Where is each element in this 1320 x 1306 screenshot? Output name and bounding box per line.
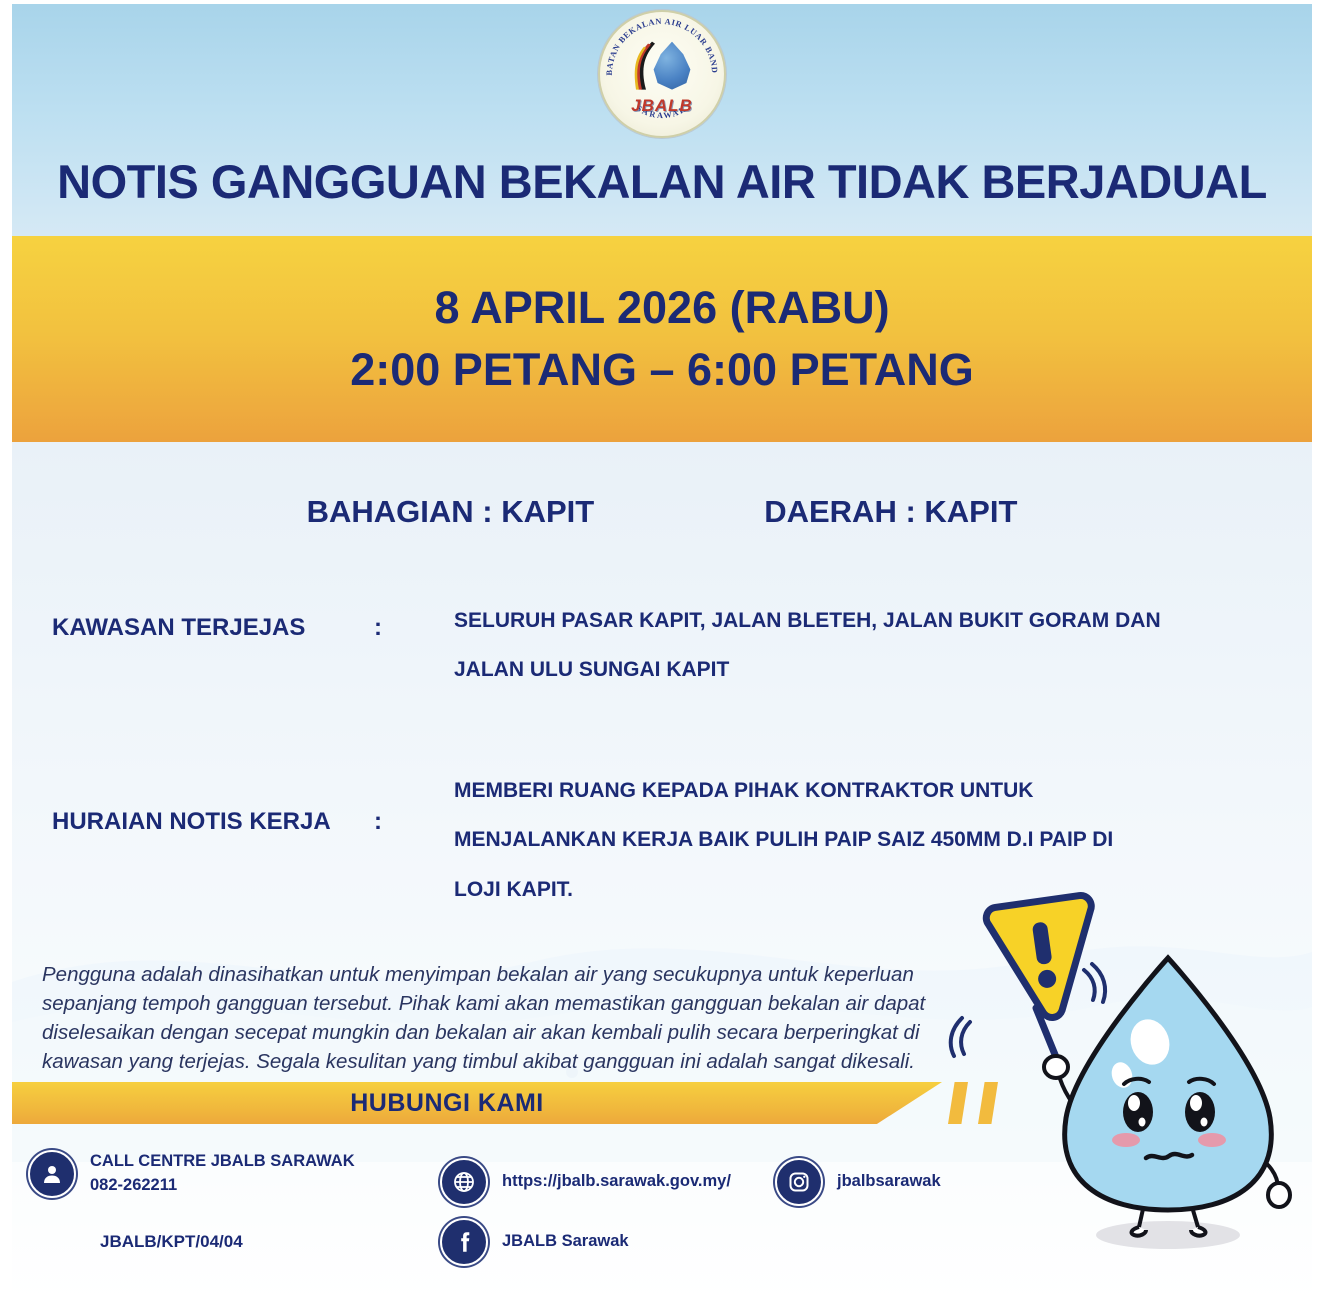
work-description-line-3: LOJI KAPIT.	[454, 865, 1214, 914]
call-centre-text: CALL CENTRE JBALB SARAWAK 082-262211	[90, 1150, 355, 1198]
logo-flame-swoosh-icon	[632, 40, 660, 92]
date-time-band: 8 APRIL 2026 (RABU) 2:00 PETANG – 6:00 P…	[12, 236, 1312, 442]
contact-banner: HUBUNGI KAMI	[12, 1082, 942, 1124]
affected-area-block: KAWASAN TERJEJAS : SELURUH PASAR KAPIT, …	[12, 592, 1312, 722]
logo-wordmark: JBALB	[631, 96, 693, 116]
district-label: DAERAH : KAPIT	[764, 494, 1017, 530]
division-label: BAHAGIAN : KAPIT	[307, 494, 595, 530]
instagram-handle: jbalbsarawak	[837, 1170, 941, 1194]
contact-facebook[interactable]: JBALB Sarawak	[440, 1218, 629, 1266]
contact-call-centre[interactable]: CALL CENTRE JBALB SARAWAK 082-262211	[28, 1150, 355, 1198]
work-description-colon: :	[374, 808, 382, 836]
facebook-page: JBALB Sarawak	[502, 1230, 629, 1254]
poster-header: JABATAN BEKALAN AIR LUAR BANDAR SARAWAK …	[12, 4, 1312, 236]
affected-area-colon: :	[374, 614, 382, 642]
advisory-paragraph: Pengguna adalah dinasihatkan untuk menyi…	[42, 960, 942, 1076]
jbalb-logo: JABATAN BEKALAN AIR LUAR BANDAR SARAWAK …	[598, 10, 726, 138]
work-description-block: HURAIAN NOTIS KERJA : MEMBERI RUANG KEPA…	[12, 762, 1312, 942]
contact-list: CALL CENTRE JBALB SARAWAK 082-262211 htt…	[0, 1140, 1320, 1290]
contact-instagram[interactable]: jbalbsarawak	[775, 1158, 941, 1206]
affected-area-label: KAWASAN TERJEJAS	[52, 614, 305, 642]
affected-area-value: SELURUH PASAR KAPIT, JALAN BLETEH, JALAN…	[454, 596, 1214, 695]
facebook-icon	[440, 1218, 488, 1266]
page-title: NOTIS GANGGUAN BEKALAN AIR TIDAK BERJADU…	[12, 154, 1312, 209]
water-disruption-notice-poster: JABATAN BEKALAN AIR LUAR BANDAR SARAWAK …	[0, 0, 1320, 1306]
person-icon	[28, 1150, 76, 1198]
work-description-value: MEMBERI RUANG KEPADA PIHAK KONTRAKTOR UN…	[454, 766, 1214, 914]
work-description-line-1: MEMBERI RUANG KEPADA PIHAK KONTRAKTOR UN…	[454, 766, 1214, 815]
work-description-label: HURAIAN NOTIS KERJA	[52, 808, 331, 836]
call-centre-name: CALL CENTRE JBALB SARAWAK	[90, 1150, 355, 1174]
instagram-icon	[775, 1158, 823, 1206]
contact-banner-title: HUBUNGI KAMI	[350, 1089, 544, 1118]
region-row: BAHAGIAN : KAPIT DAERAH : KAPIT	[12, 494, 1312, 530]
affected-area-line-1: SELURUH PASAR KAPIT, JALAN BLETEH, JALAN…	[454, 596, 1214, 645]
contact-website[interactable]: https://jbalb.sarawak.gov.my/	[440, 1158, 731, 1206]
website-url: https://jbalb.sarawak.gov.my/	[502, 1170, 731, 1194]
globe-icon	[440, 1158, 488, 1206]
work-description-line-2: MENJALANKAN KERJA BAIK PULIH PAIP SAIZ 4…	[454, 815, 1214, 864]
call-centre-phone: 082-262211	[90, 1174, 355, 1198]
reference-number: JBALB/KPT/04/04	[100, 1232, 243, 1252]
affected-area-line-2: JALAN ULU SUNGAI KAPIT	[454, 645, 1214, 694]
disruption-date: 8 APRIL 2026 (RABU)	[434, 277, 889, 339]
disruption-time: 2:00 PETANG – 6:00 PETANG	[350, 339, 974, 401]
